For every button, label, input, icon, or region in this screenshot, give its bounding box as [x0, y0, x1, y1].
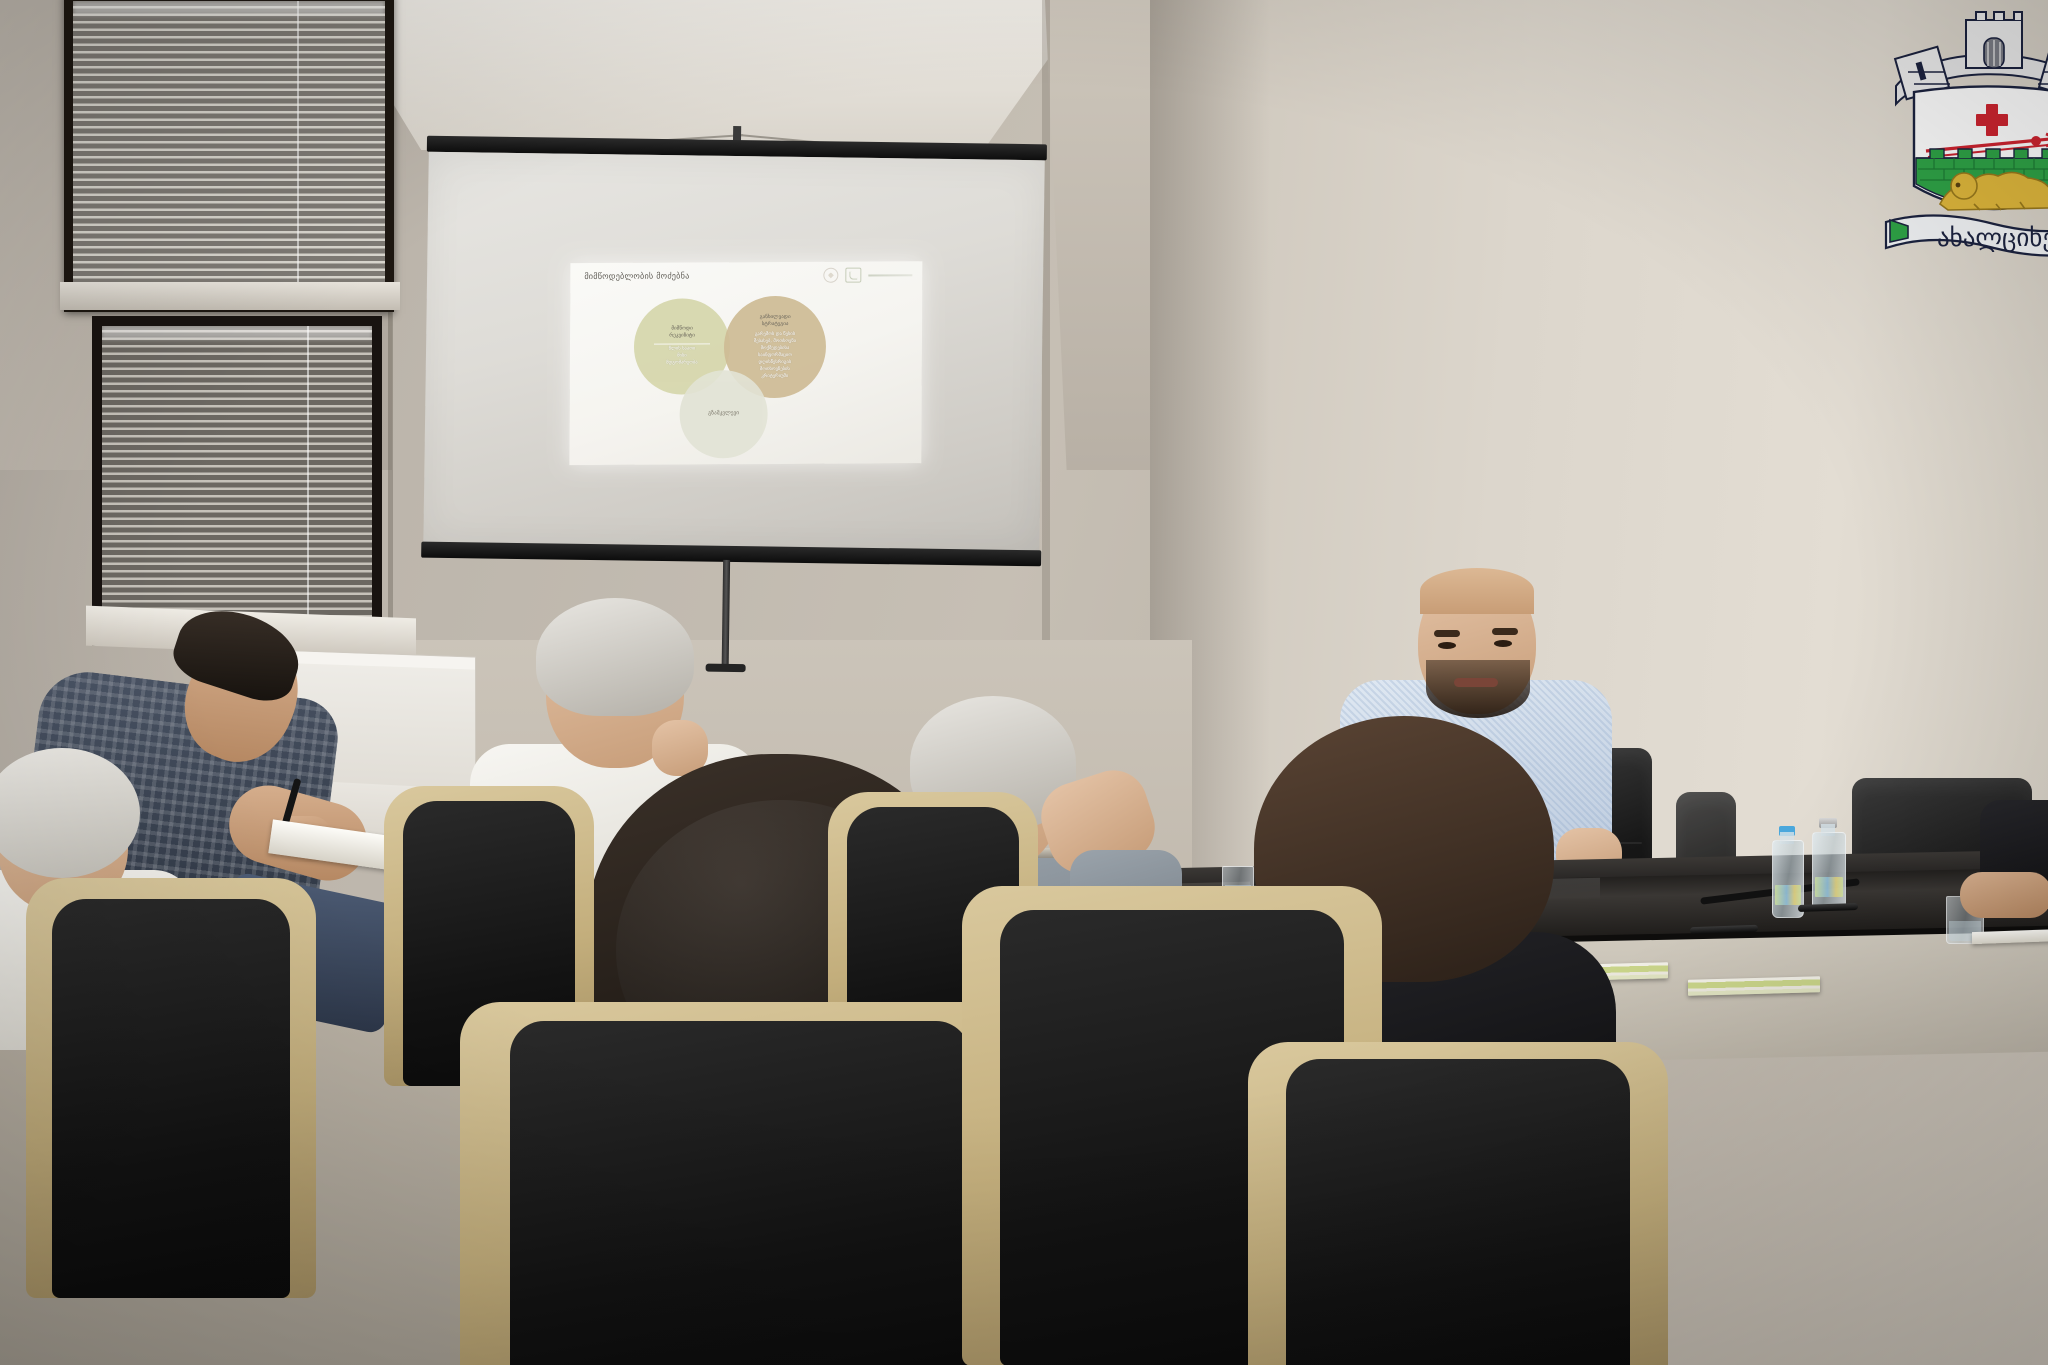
- screen-surface: მიმწოდებლობის მოძებნა მიმწოდი რეკვიზიტი …: [423, 152, 1044, 553]
- window-sill-upper: [60, 282, 400, 310]
- circle-right-heading: განხილვადი სტრატეგია: [760, 313, 791, 328]
- slide-logo-group: [823, 267, 912, 282]
- chair-pad-3: [52, 899, 290, 1298]
- shield-body: [1914, 86, 2048, 210]
- audience-chair-4[interactable]: [460, 1002, 1020, 1365]
- presenter-bald-crown: [1420, 568, 1534, 614]
- circle-left-heading: მიმწოდი რეკვიზიტი: [669, 325, 695, 340]
- slide-title: მიმწოდებლობის მოძებნა: [584, 270, 689, 281]
- bottle-label-3: [1775, 885, 1801, 905]
- akhaltsikhe-coat-of-arms: ახალციხე: [1878, 8, 2048, 266]
- projected-slide: მიმწოდებლობის მოძებნა მიმწოდი რეკვიზიტი …: [569, 261, 922, 465]
- presenter-mouth: [1454, 678, 1498, 687]
- green-square-logo-icon: [845, 268, 861, 283]
- slide-circle-bottom: გზამკვლევი: [679, 370, 767, 458]
- chair-pad-4: [510, 1021, 969, 1365]
- far-right-hand: [1960, 872, 2048, 918]
- presenter-eye-right: [1494, 640, 1512, 647]
- logo-wordmark: [868, 274, 912, 276]
- projection-screen[interactable]: მიმწოდებლობის მოძებნა მიმწოდი რეკვიზიტი …: [421, 136, 1047, 575]
- audience-chair-3[interactable]: [26, 878, 316, 1298]
- bottle-label-4: [1815, 877, 1843, 897]
- presenter-eyebrow-left: [1434, 630, 1460, 637]
- window-upper-left: [64, 0, 394, 312]
- chair-pad-6: [1286, 1059, 1630, 1365]
- presenter-eye-left: [1438, 642, 1456, 649]
- ceiling: [330, 0, 1090, 150]
- attendee-far-right-partial: [1966, 800, 2048, 960]
- emblem-banner-text: ახალციხე: [1937, 223, 2048, 252]
- audience-chair-6[interactable]: [1248, 1042, 1668, 1365]
- presenter-eyebrow-right: [1492, 628, 1518, 635]
- presenter-beard: [1426, 660, 1530, 718]
- bottle-body-4: [1812, 832, 1846, 910]
- window-frame-upper: [64, 0, 394, 312]
- meeting-room-photo: მიმწოდებლობის მოძებნა მიმწოდი რეკვიზიტი …: [0, 0, 2048, 1365]
- seal-logo-icon: [823, 268, 838, 283]
- circle-bottom-heading: გზამკვლევი: [708, 410, 739, 418]
- scroll-banner: ახალციხე: [1886, 215, 2048, 255]
- circle-right-body: გარემოს და წესის შესახებ, მოთხოვნა მოქმე…: [754, 332, 797, 380]
- circle-left-body: წლის საათი მისი მდგომარეობა: [666, 347, 698, 368]
- grey-hair-crown: [536, 598, 694, 716]
- circle-left-divider: [654, 343, 710, 344]
